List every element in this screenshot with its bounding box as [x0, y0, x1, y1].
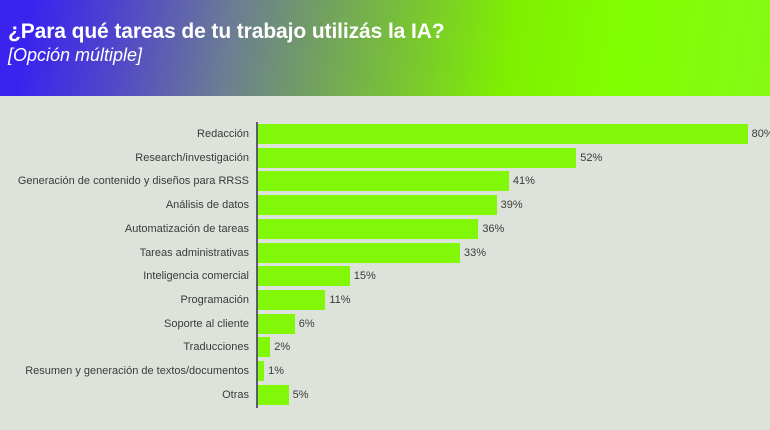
- bar-value-label: 41%: [513, 171, 535, 191]
- page-subtitle: [Opción múltiple]: [8, 45, 770, 66]
- bar-category-label: Automatización de tareas: [5, 219, 249, 239]
- bar-track: [258, 266, 350, 286]
- bar-fill[interactable]: [258, 219, 478, 239]
- bar-track: [258, 314, 295, 334]
- bar-category-label: Inteligencia comercial: [5, 266, 249, 286]
- bar-row[interactable]: Generación de contenido y diseños para R…: [0, 171, 770, 195]
- bar-track: [258, 243, 460, 263]
- bar-fill[interactable]: [258, 337, 270, 357]
- bar-value-label: 1%: [268, 361, 284, 381]
- bar-value-label: 2%: [274, 337, 290, 357]
- bar-fill[interactable]: [258, 266, 350, 286]
- bar-row[interactable]: Programación11%: [0, 290, 770, 314]
- bar-category-label: Programación: [5, 290, 249, 310]
- header-banner: ¿Para qué tareas de tu trabajo utilizás …: [0, 0, 770, 96]
- bar-row[interactable]: Resumen y generación de textos/documento…: [0, 361, 770, 385]
- bar-fill[interactable]: [258, 290, 325, 310]
- bar-track: [258, 385, 289, 405]
- bar-category-label: Traducciones: [5, 337, 249, 357]
- bar-row[interactable]: Redacción80%: [0, 124, 770, 148]
- bar-row[interactable]: Traducciones2%: [0, 337, 770, 361]
- slide-root: ¿Para qué tareas de tu trabajo utilizás …: [0, 0, 770, 430]
- bar-row[interactable]: Inteligencia comercial15%: [0, 266, 770, 290]
- bar-row[interactable]: Soporte al cliente6%: [0, 314, 770, 338]
- bar-fill[interactable]: [258, 361, 264, 381]
- bar-value-label: 33%: [464, 243, 486, 263]
- bar-category-label: Research/investigación: [5, 148, 249, 168]
- bar-value-label: 11%: [329, 290, 350, 310]
- bar-track: [258, 195, 497, 215]
- bar-category-label: Generación de contenido y diseños para R…: [5, 171, 249, 191]
- bar-fill[interactable]: [258, 124, 748, 144]
- bar-fill[interactable]: [258, 385, 289, 405]
- bar-category-label: Análisis de datos: [5, 195, 249, 215]
- bar-chart: Redacción80%Research/investigación52%Gen…: [0, 96, 770, 430]
- bar-track: [258, 361, 264, 381]
- bar-track: [258, 290, 325, 310]
- bar-track: [258, 171, 509, 191]
- bar-track: [258, 219, 478, 239]
- bar-row[interactable]: Análisis de datos39%: [0, 195, 770, 219]
- bar-row[interactable]: Tareas administrativas33%: [0, 243, 770, 267]
- bar-track: [258, 148, 576, 168]
- bar-category-label: Tareas administrativas: [5, 243, 249, 263]
- bar-value-label: 80%: [752, 124, 770, 144]
- bar-fill[interactable]: [258, 195, 497, 215]
- bar-value-label: 36%: [482, 219, 504, 239]
- bar-value-label: 52%: [580, 148, 602, 168]
- bar-row[interactable]: Automatización de tareas36%: [0, 219, 770, 243]
- bar-value-label: 39%: [501, 195, 523, 215]
- bar-category-label: Redacción: [5, 124, 249, 144]
- bar-fill[interactable]: [258, 314, 295, 334]
- bar-fill[interactable]: [258, 243, 460, 263]
- page-title: ¿Para qué tareas de tu trabajo utilizás …: [8, 20, 770, 45]
- bar-category-label: Soporte al cliente: [5, 314, 249, 334]
- bar-category-label: Otras: [5, 385, 249, 405]
- bar-value-label: 15%: [354, 266, 376, 286]
- bar-track: [258, 337, 270, 357]
- bar-row[interactable]: Research/investigación52%: [0, 148, 770, 172]
- bar-fill[interactable]: [258, 171, 509, 191]
- bar-fill[interactable]: [258, 148, 576, 168]
- bar-category-label: Resumen y generación de textos/documento…: [5, 361, 249, 381]
- bar-value-label: 6%: [299, 314, 315, 334]
- bar-value-label: 5%: [293, 385, 309, 405]
- bar-row[interactable]: Otras5%: [0, 385, 770, 409]
- bar-track: [258, 124, 748, 144]
